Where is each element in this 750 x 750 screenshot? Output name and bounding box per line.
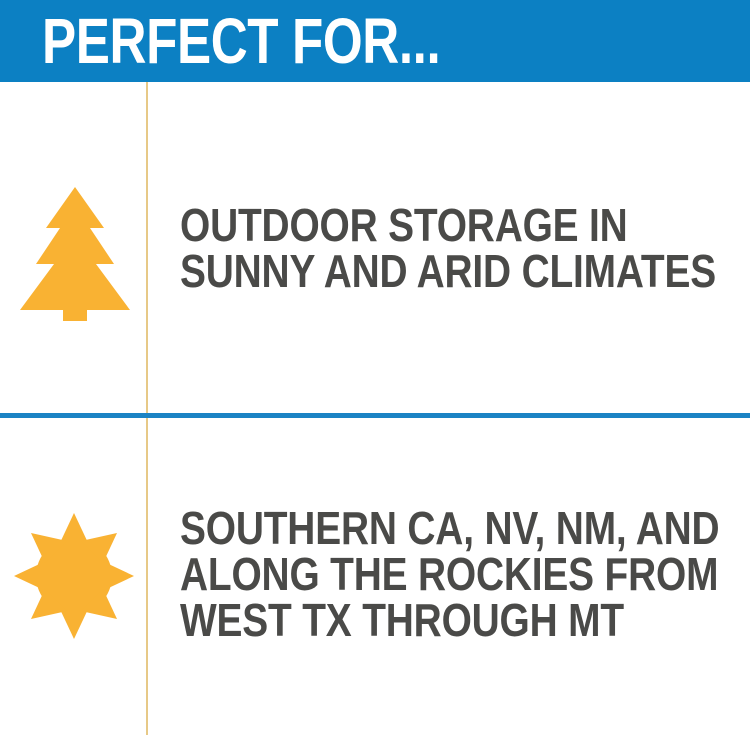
feature-text-outdoor-storage: OUTDOOR STORAGE IN SUNNY AND ARID CLIMAT… — [180, 202, 716, 294]
feature-text-line: ALONG THE ROCKIES FROM — [180, 551, 719, 597]
feature-row-outdoor-storage: OUTDOOR STORAGE IN SUNNY AND ARID CLIMAT… — [0, 82, 750, 413]
page-title: PERFECT FOR... — [42, 6, 440, 76]
feature-text-regions: SOUTHERN CA, NV, NM, AND ALONG THE ROCKI… — [180, 505, 719, 643]
icon-cell-tree — [0, 82, 146, 413]
icon-cell-sun — [0, 418, 146, 750]
feature-text-line: SUNNY AND ARID CLIMATES — [180, 248, 716, 294]
feature-text-line: WEST TX THROUGH MT — [180, 597, 719, 643]
sun-icon — [14, 513, 134, 639]
perfect-for-infographic: PERFECT FOR... OUTDOOR STORAGE IN SUNNY … — [0, 0, 750, 750]
text-cell-regions: SOUTHERN CA, NV, NM, AND ALONG THE ROCKI… — [148, 418, 750, 750]
feature-row-regions: SOUTHERN CA, NV, NM, AND ALONG THE ROCKI… — [0, 418, 750, 750]
text-cell-outdoor-storage: OUTDOOR STORAGE IN SUNNY AND ARID CLIMAT… — [148, 82, 750, 413]
feature-text-line: SOUTHERN CA, NV, NM, AND — [180, 505, 719, 551]
pine-tree-icon — [20, 187, 130, 321]
header-bar: PERFECT FOR... — [0, 0, 750, 82]
feature-text-line: OUTDOOR STORAGE IN — [180, 202, 716, 248]
